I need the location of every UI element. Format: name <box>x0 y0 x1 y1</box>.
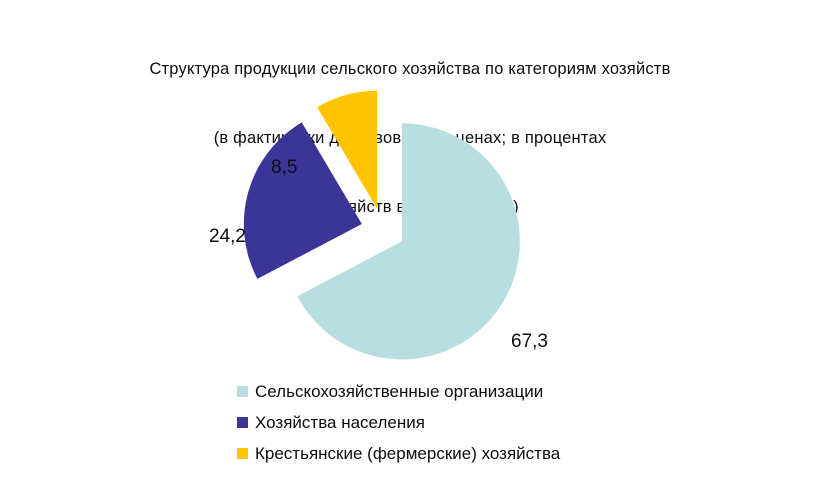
data-label-krestyanskie-fermerskie-hozyaystva: 8,5 <box>271 158 297 177</box>
data-label-selskohozyaystvennye-organizacii: 67,3 <box>511 332 548 351</box>
pie-plot-area: 67,3 24,2 8,5 <box>0 70 820 360</box>
legend-label-1: Хозяйства населения <box>255 414 425 431</box>
legend-item-hozyaystva-naseleniya[interactable]: Хозяйства населения <box>237 407 757 438</box>
legend-swatch-icon-2 <box>237 448 248 459</box>
legend-label-0: Сельскохозяйственные организации <box>255 383 543 400</box>
chart-legend: Сельскохозяйственные организации Хозяйст… <box>237 376 757 469</box>
pie-slices <box>244 91 520 360</box>
pie-svg <box>0 70 820 360</box>
legend-item-selskohozyaystvennye-organizacii[interactable]: Сельскохозяйственные организации <box>237 376 757 407</box>
legend-swatch-icon-0 <box>237 386 248 397</box>
legend-swatch-icon-1 <box>237 417 248 428</box>
legend-label-2: Крестьянские (фермерские) хозяйства <box>255 445 560 462</box>
legend-item-krestyanskie-fermerskie-hozyaystva[interactable]: Крестьянские (фермерские) хозяйства <box>237 438 757 469</box>
pie-slice-selskohozyaystvennye-organizacii[interactable] <box>297 123 519 359</box>
pie-chart-figure: Структура продукции сельского хозяйства … <box>0 0 820 492</box>
data-label-hozyaystva-naseleniya: 24,2 <box>209 227 246 246</box>
